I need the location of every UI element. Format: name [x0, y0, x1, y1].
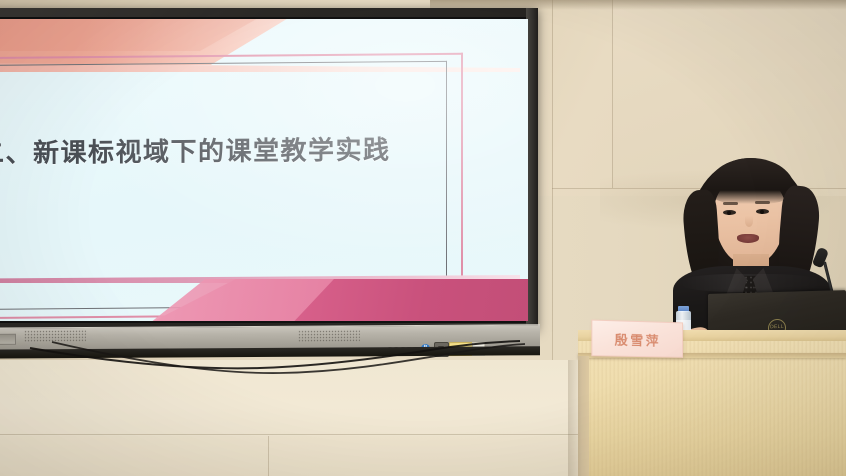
- interactive-display[interactable]: 二、新课标视域下的课堂教学实践 B: [0, 8, 538, 356]
- eye-left: [723, 210, 736, 215]
- shoulder-highlight: [681, 274, 821, 292]
- slide-frame-inner: [0, 61, 447, 310]
- display-screen[interactable]: 二、新课标视域下的课堂教学实践: [0, 19, 528, 321]
- lecture-hall-scene: 二、新课标视域下的课堂教学实践 B: [0, 0, 846, 476]
- slide-canvas: 二、新课标视域下的课堂教学实践: [0, 19, 528, 321]
- eyebrow-left: [723, 202, 738, 205]
- nose: [745, 216, 753, 227]
- mouth: [737, 234, 759, 243]
- hair-top: [707, 158, 795, 204]
- slide-title: 二、新课标视域下的课堂教学实践: [0, 129, 478, 170]
- name-card-text: 殷雪萍: [615, 329, 661, 349]
- podium-left-shadow: [568, 360, 582, 476]
- podium-front-panel: [578, 341, 846, 476]
- eye-right: [756, 209, 769, 214]
- name-card: 殷雪萍: [591, 320, 683, 358]
- wall-seam-vertical-4: [268, 436, 269, 476]
- eyebrow-right: [755, 201, 770, 204]
- wall-seam-vertical-1: [612, 0, 613, 188]
- display-cables: [0, 340, 560, 380]
- podium: 殷雪萍: [578, 330, 846, 476]
- display-brand-label: [152, 330, 232, 338]
